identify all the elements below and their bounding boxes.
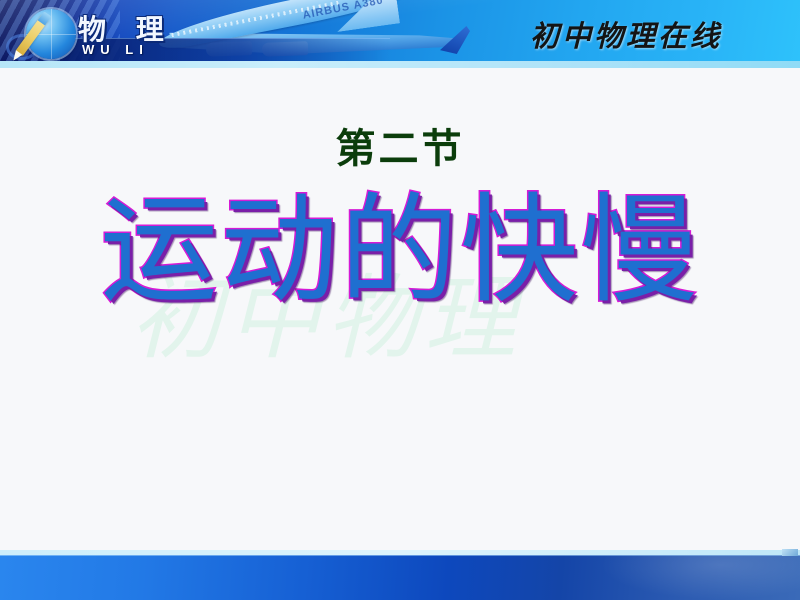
presentation-slide: AIRBUS A380 物 理 WU LI 初中物理在线 第二节 初中物理 运动…: [0, 0, 800, 600]
header-banner: AIRBUS A380 物 理 WU LI 初中物理在线: [0, 0, 800, 68]
section-label: 第二节: [0, 116, 800, 174]
site-name: 初中物理在线: [530, 13, 722, 55]
corner-marker: [782, 549, 798, 556]
logo-subtitle: WU LI: [82, 42, 149, 57]
slide-content-area: 第二节 初中物理 运动的快慢: [0, 68, 800, 555]
slide-main-title: 运动的快慢: [0, 186, 800, 316]
header-bottom-strip: [0, 61, 800, 68]
footer-bar: [0, 555, 800, 600]
